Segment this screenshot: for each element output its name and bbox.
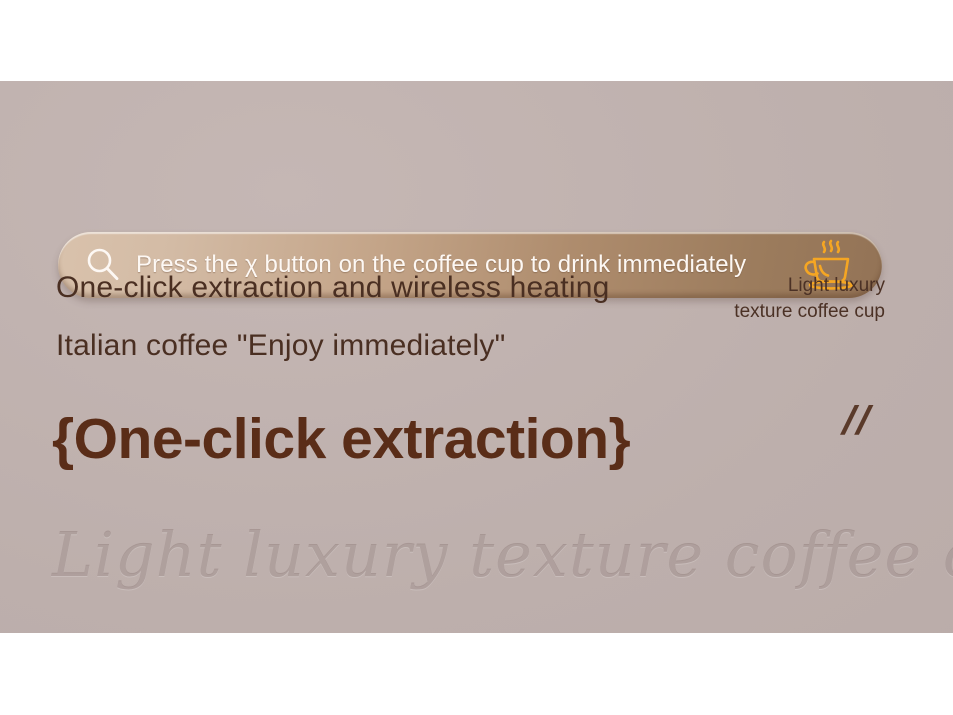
side-caption-line-1: Light luxury <box>655 273 885 299</box>
subheading-line-1: One-click extraction and wireless heatin… <box>56 271 609 305</box>
script-watermark: Light luxury texture coffee cup <box>52 524 953 586</box>
side-caption: Light luxury texture coffee cup <box>655 273 885 325</box>
subheading-line-2: Italian coffee "Enjoy immediately" <box>56 329 505 363</box>
poster-panel: Light luxury texture coffee cup Press th… <box>0 81 953 633</box>
slash-decoration: // <box>841 399 874 444</box>
side-caption-line-2: texture coffee cup <box>655 299 885 325</box>
page-title: {One-click extraction} <box>52 406 630 472</box>
